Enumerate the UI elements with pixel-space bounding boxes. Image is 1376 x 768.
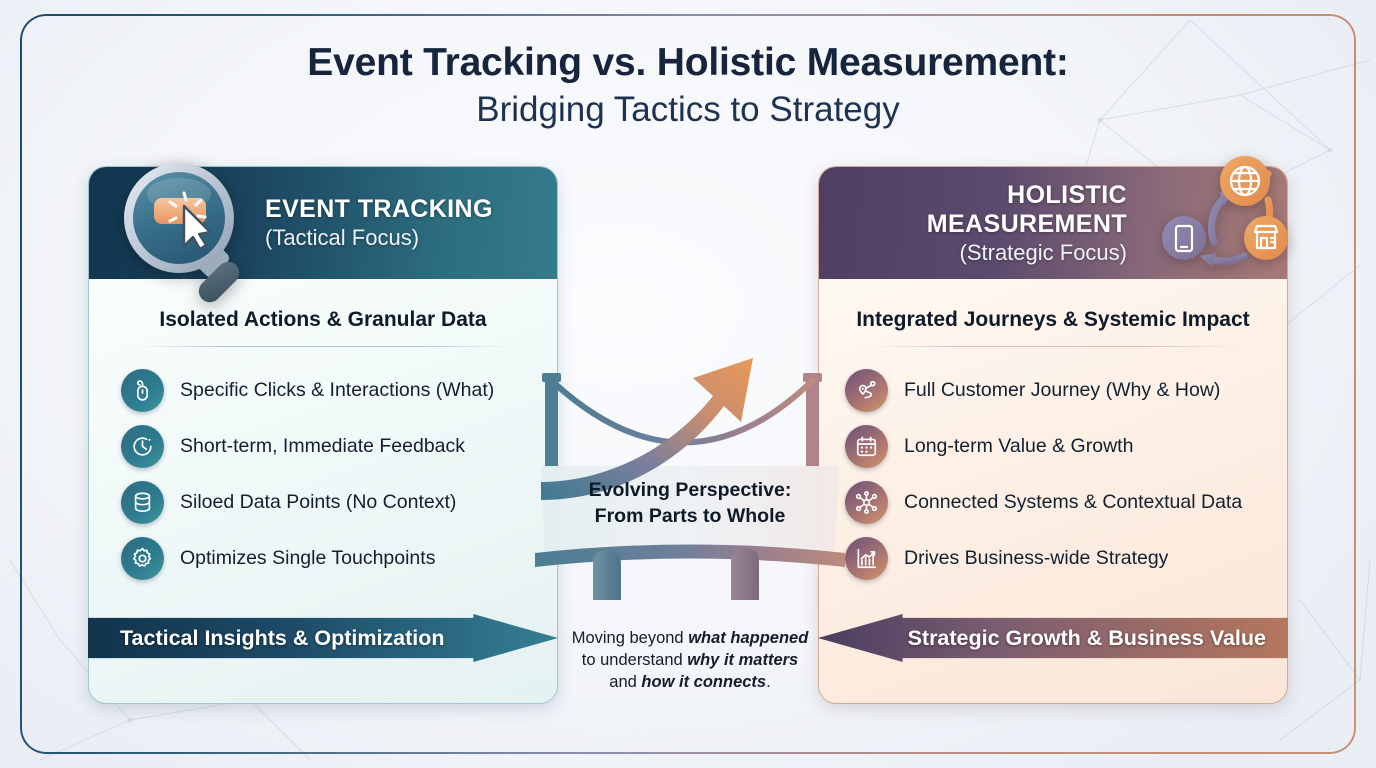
list-item: Connected Systems & Contextual Data xyxy=(845,474,1267,530)
footnote-l1-pre: Moving beyond xyxy=(572,629,689,647)
omnichannel-cycle-icon xyxy=(1122,152,1292,292)
list-item: Optimizes Single Touchpoints xyxy=(121,530,537,586)
footnote-l2-pre: to understand xyxy=(582,651,688,669)
bridge-illustration xyxy=(535,300,845,600)
divider xyxy=(867,346,1239,347)
holistic-measurement-title: HOLISTIC MEASUREMENT xyxy=(819,181,1127,239)
tactical-insights-banner-label: Tactical Insights & Optimization xyxy=(120,626,445,651)
list-item-label: Specific Clicks & Interactions (What) xyxy=(180,379,494,402)
holistic-measurement-body: Integrated Journeys & Systemic Impact Fu… xyxy=(819,308,1287,586)
holistic-measurement-section-heading: Integrated Journeys & Systemic Impact xyxy=(839,308,1267,332)
list-item: Siloed Data Points (No Context) xyxy=(121,474,537,530)
holistic-measurement-subtitle: (Strategic Focus) xyxy=(960,240,1128,266)
event-tracking-subtitle: (Tactical Focus) xyxy=(265,225,419,251)
network-nodes-icon xyxy=(845,481,888,524)
list-item: Drives Business-wide Strategy xyxy=(845,530,1267,586)
list-item: Specific Clicks & Interactions (What) xyxy=(121,362,537,418)
list-item-label: Optimizes Single Touchpoints xyxy=(180,547,435,570)
event-tracking-list: Specific Clicks & Interactions (What) Sh… xyxy=(109,362,537,586)
database-icon xyxy=(121,481,164,524)
strategic-growth-banner-label: Strategic Growth & Business Value xyxy=(908,626,1266,651)
list-item-label: Short-term, Immediate Feedback xyxy=(180,435,465,458)
footnote-l3-post: . xyxy=(766,673,771,691)
list-item: Full Customer Journey (Why & How) xyxy=(845,362,1267,418)
divider xyxy=(137,346,509,347)
page-title: Event Tracking vs. Holistic Measurement:… xyxy=(0,42,1376,133)
bridge-with-upward-arrow-icon xyxy=(535,300,845,600)
event-tracking-title: EVENT TRACKING xyxy=(265,195,493,224)
gear-icon xyxy=(121,537,164,580)
list-item-label: Siloed Data Points (No Context) xyxy=(180,491,456,514)
event-tracking-body: Isolated Actions & Granular Data Specifi… xyxy=(89,308,557,586)
footnote-l2-emphasis: why it matters xyxy=(687,651,798,669)
calendar-icon xyxy=(845,425,888,468)
list-item-label: Connected Systems & Contextual Data xyxy=(904,491,1242,514)
title-main-line: Event Tracking vs. Holistic Measurement: xyxy=(0,42,1376,84)
footnote-l3-pre: and xyxy=(609,673,641,691)
title-sub-line: Bridging Tactics to Strategy xyxy=(0,86,1376,133)
center-footnote-line3: and how it connects. xyxy=(540,672,840,694)
mouse-icon xyxy=(121,369,164,412)
list-item: Long-term Value & Growth xyxy=(845,418,1267,474)
bridge-caption-line2: From Parts to Whole xyxy=(535,504,845,530)
footnote-l1-emphasis: what happened xyxy=(688,629,808,647)
holistic-measurement-list: Full Customer Journey (Why & How) xyxy=(839,362,1267,586)
bridge-caption-line1: Evolving Perspective: xyxy=(535,478,845,504)
journey-map-icon xyxy=(845,369,888,412)
strategic-growth-banner: Strategic Growth & Business Value xyxy=(818,614,1288,662)
center-footnote-line1: Moving beyond what happened xyxy=(540,628,840,650)
bar-chart-growth-icon xyxy=(845,537,888,580)
footnote-l3-emphasis: how it connects xyxy=(641,673,766,691)
event-tracking-section-heading: Isolated Actions & Granular Data xyxy=(109,308,537,332)
list-item-label: Drives Business-wide Strategy xyxy=(904,547,1168,570)
infographic-canvas: Event Tracking vs. Holistic Measurement:… xyxy=(0,0,1376,768)
list-item-label: Long-term Value & Growth xyxy=(904,435,1133,458)
tactical-insights-banner: Tactical Insights & Optimization xyxy=(88,614,558,662)
center-footnote-line2: to understand why it matters xyxy=(540,650,840,672)
magnifier-click-icon xyxy=(104,150,264,310)
bridge-caption: Evolving Perspective: From Parts to Whol… xyxy=(535,478,845,529)
list-item-label: Full Customer Journey (Why & How) xyxy=(904,379,1220,402)
clock-icon xyxy=(121,425,164,468)
list-item: Short-term, Immediate Feedback xyxy=(121,418,537,474)
center-footnote: Moving beyond what happened to understan… xyxy=(540,628,840,694)
